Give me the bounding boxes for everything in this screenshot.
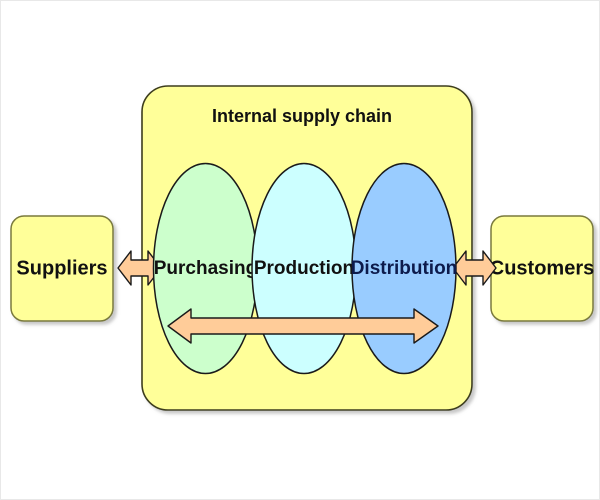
diagram-canvas: Internal supply chain Suppliers Customer… [0, 0, 600, 500]
external-node-suppliers[interactable]: Suppliers [11, 216, 113, 321]
stage-distribution[interactable]: Distribution [351, 164, 458, 374]
suppliers-label: Suppliers [16, 257, 107, 279]
container-title: Internal supply chain [212, 106, 392, 126]
distribution-label: Distribution [351, 258, 458, 279]
purchasing-label: Purchasing [154, 258, 257, 279]
production-label: Production [254, 258, 354, 279]
stage-purchasing[interactable]: Purchasing [154, 164, 258, 374]
customers-label: Customers [490, 257, 594, 279]
stage-production[interactable]: Production [252, 164, 356, 374]
supply-chain-diagram: Internal supply chain Suppliers Customer… [1, 1, 600, 500]
external-node-customers[interactable]: Customers [490, 216, 594, 321]
